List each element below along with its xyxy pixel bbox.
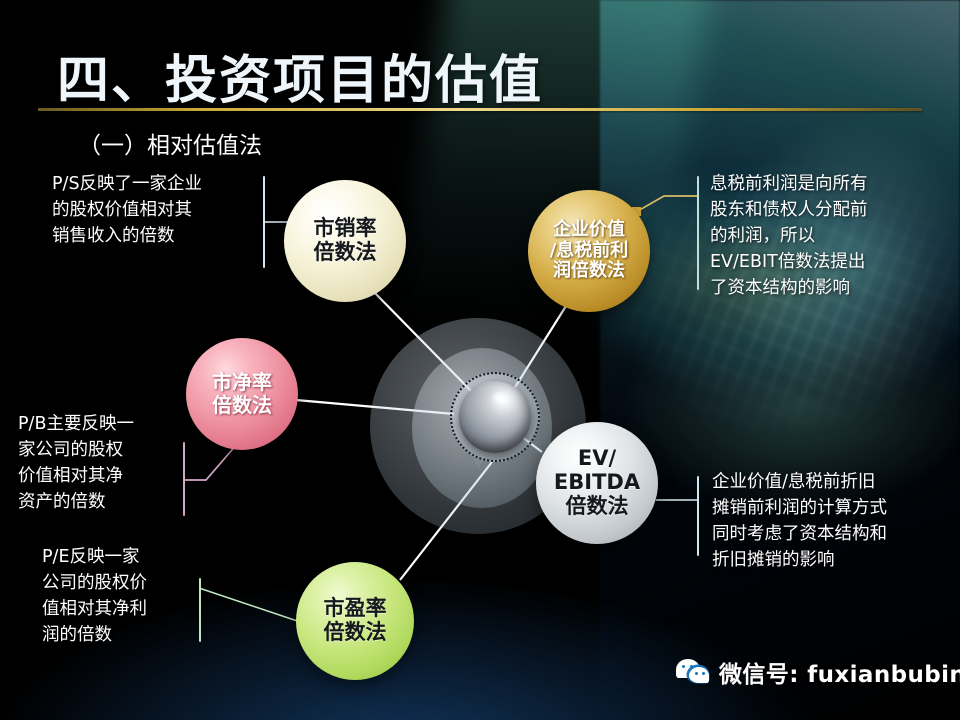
orb-label-ev: 企业价值 /息税前利 润倍数法 — [550, 220, 629, 282]
bracket-ebit-note — [697, 176, 699, 290]
orb-shi-ying-lv[interactable]: 市盈率 倍数法 — [296, 562, 414, 680]
orb-ev-ebitda[interactable]: EV/ EBITDA 倍数法 — [536, 422, 658, 544]
bracket-ps-note — [263, 176, 265, 268]
orb-label-ev-ebitda: EV/ EBITDA 倍数法 — [554, 447, 640, 519]
slide-subtitle: （一）相对估值法 — [78, 126, 262, 160]
bracket-ebitda-note — [697, 476, 699, 556]
slide-title: 四、投资项目的估值 — [57, 38, 543, 113]
wechat-id-text: 微信号: fuxianbubin — [719, 655, 960, 689]
wire-ebit-note — [636, 196, 697, 212]
orb-label-ps: 市销率 倍数法 — [314, 217, 377, 265]
note-ebit: 息税前利润是向所有 股东和债权人分配前 的利润，所以 EV/EBIT倍数法提出 … — [710, 172, 940, 301]
orb-shi-xiao-lv[interactable]: 市销率 倍数法 — [284, 180, 406, 302]
orb-qiye-jiazhi-ebit[interactable]: 企业价值 /息税前利 润倍数法 — [528, 190, 650, 312]
note-pe: P/E反映一家 公司的股权价 值相对其净利 润的倍数 — [42, 545, 222, 649]
wechat-icon — [676, 659, 710, 685]
orb-label-pb: 市净率 倍数法 — [212, 371, 272, 417]
note-ebitda: 企业价值/息税前折旧 摊销前利润的计算方式 同时考虑了资本结构和 折旧摊销的影响 — [712, 470, 940, 574]
title-divider-rule — [38, 108, 922, 111]
note-ps: P/S反映了一家企业 的股权价值相对其 销售收入的倍数 — [52, 172, 257, 250]
wechat-watermark: 微信号: fuxianbubin — [676, 655, 960, 689]
orb-label-pe: 市盈率 倍数法 — [324, 597, 387, 645]
center-hub-sphere[interactable] — [459, 381, 531, 453]
note-pb: P/B主要反映一 家公司的股权 价值相对其净 资产的倍数 — [18, 412, 208, 516]
presentation-slide: 四、投资项目的估值 （一）相对估值法 — [0, 0, 960, 720]
